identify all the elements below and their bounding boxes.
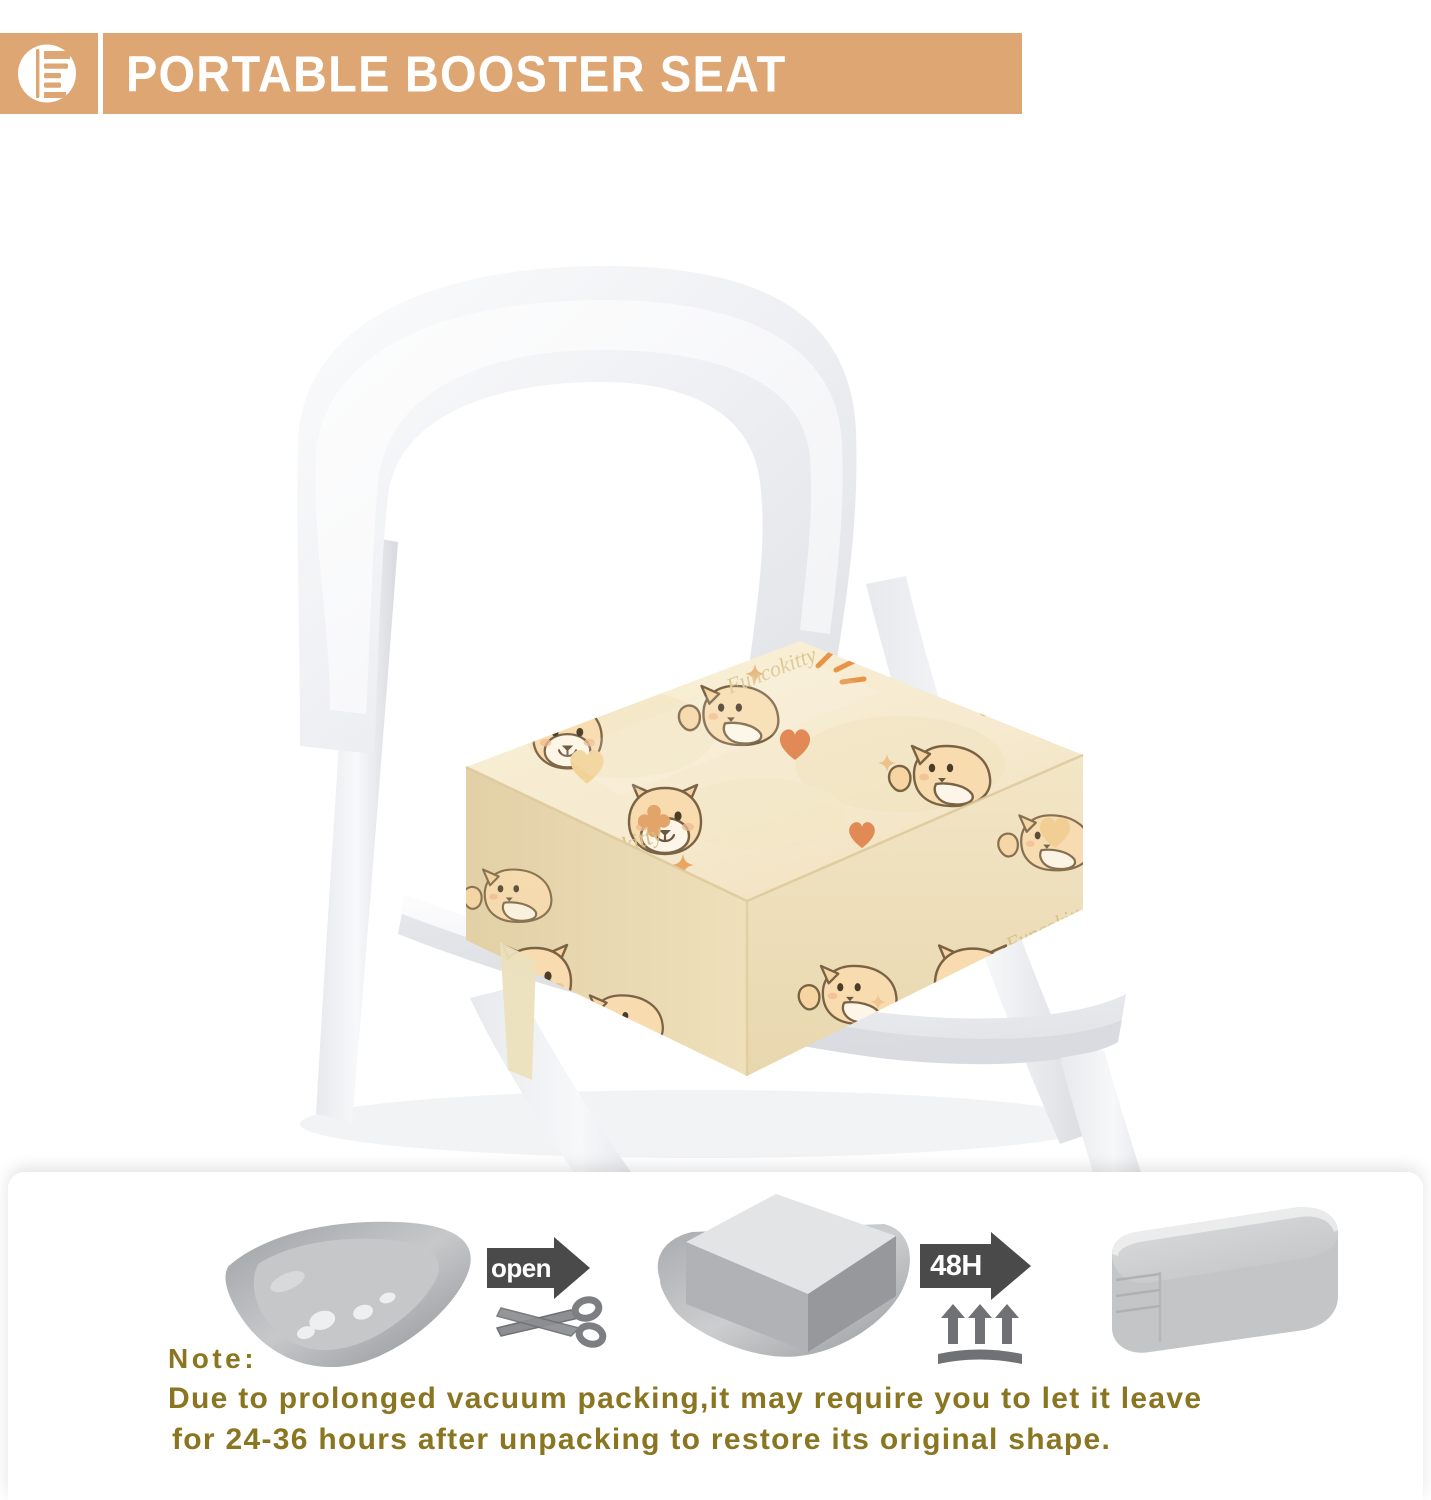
brand-logo [0,33,98,114]
wait-badge-label: 48H [920,1244,992,1288]
banner-title: PORTABLE BOOSTER SEAT [126,44,787,103]
note-line-1: Due to prolonged vacuum packing,it may r… [168,1378,1398,1419]
note-block: Note: Due to prolonged vacuum packing,it… [168,1340,1398,1460]
open-badge-label: open [487,1248,555,1288]
arrow-right-icon [991,1232,1031,1300]
restored-foam-cushion-icon [1112,1207,1338,1353]
header-banner: PORTABLE BOOSTER SEAT [0,33,1022,114]
banner-divider [98,33,103,114]
wait-arrow-badge: 48H [920,1232,1031,1300]
cushion-in-open-bag-icon [658,1194,910,1357]
arrow-right-icon [554,1237,590,1299]
note-label: Note: [168,1340,1398,1378]
chair-with-booster-seat-illustration: Funcokitty Funcokitty Funcokitty Funcoki… [0,114,1431,1179]
open-arrow-badge: open [487,1237,590,1299]
hero-product-photo: Funcokitty Funcokitty Funcokitty Funcoki… [0,114,1431,1179]
funcokitty-book-logo-icon [17,43,77,104]
note-line-2: for 24-36 hours after unpacking to resto… [168,1419,1398,1460]
